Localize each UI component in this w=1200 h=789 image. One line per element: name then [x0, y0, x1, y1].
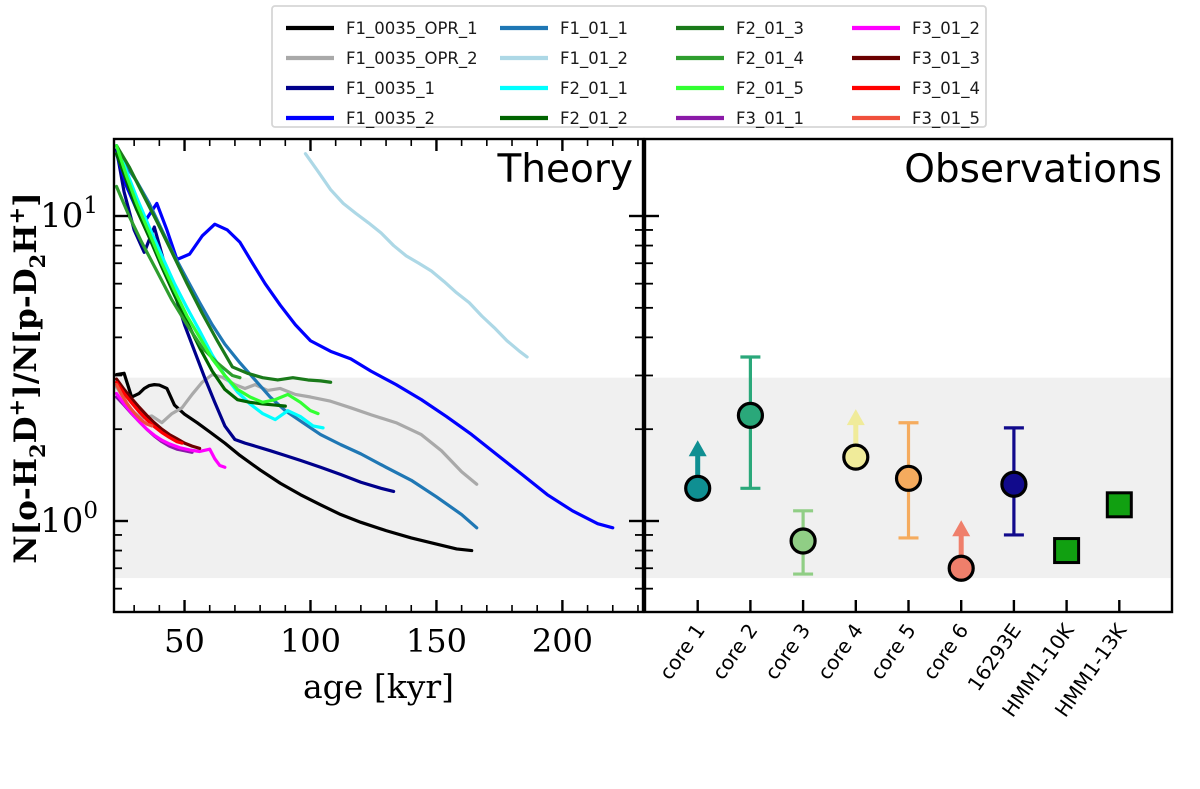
y-axis-label: N[o-H2D+]/N[p-D2H+] [4, 192, 50, 564]
theory-shaded-band [114, 378, 643, 578]
observation-circle-marker[interactable] [738, 403, 762, 427]
obs-x-tick-label: core 4 [812, 619, 867, 684]
obs-x-tick-label: core 3 [760, 619, 815, 684]
observation-circle-marker[interactable] [791, 529, 815, 553]
legend-label: F3_01_2 [912, 19, 980, 39]
legend-label: F2_01_5 [736, 79, 804, 99]
legend-label: F1_0035_2 [346, 109, 435, 129]
observations-x-axis: core 1core 2core 3core 4core 5core 61629… [654, 600, 1132, 721]
y-tick-label: 101 [40, 193, 98, 236]
obs-x-tick-label: core 5 [865, 619, 920, 684]
legend-label: F1_0035_OPR_2 [346, 49, 478, 69]
theory-curve [305, 154, 527, 357]
obs-x-tick-label: core 1 [654, 619, 709, 684]
panel-title-theory: Theory [496, 147, 633, 192]
x-axis-label: age [kyr] [303, 667, 454, 706]
observation-circle-marker[interactable] [844, 445, 868, 469]
legend-label: F2_01_3 [736, 19, 804, 39]
theory-curve [117, 146, 319, 414]
obs-x-tick-label: core 2 [707, 619, 762, 684]
x-tick-label: 50 [164, 622, 205, 660]
figure-svg: 10010150100150200core 1core 2core 3core … [0, 0, 1200, 789]
legend-label: F3_01_1 [736, 109, 804, 129]
observation-point[interactable] [1055, 539, 1079, 563]
panel-title-observations: Observations [904, 147, 1162, 192]
legend-label: F2_01_1 [560, 79, 628, 99]
legend-label: F3_01_4 [912, 79, 980, 99]
legend-label: F3_01_5 [912, 109, 980, 129]
x-tick-label: 150 [406, 622, 467, 660]
legend-label: F1_01_1 [560, 19, 628, 39]
y-axis-label-text: N[o-H2D+]/N[p-D2H+] [4, 192, 50, 564]
legend-label: F2_01_4 [736, 49, 804, 69]
legend-label: F3_01_3 [912, 49, 980, 69]
legend-label: F1_01_2 [560, 49, 628, 69]
observation-circle-marker[interactable] [949, 556, 973, 580]
x-tick-label: 200 [532, 622, 593, 660]
legend-label: F1_0035_1 [346, 79, 435, 99]
observation-square-marker[interactable] [1107, 493, 1131, 517]
theory-curve [117, 146, 331, 383]
legend-label: F2_01_2 [560, 109, 628, 129]
observation-circle-marker[interactable] [1002, 472, 1026, 496]
observation-circle-marker[interactable] [686, 476, 710, 500]
figure-root: 10010150100150200core 1core 2core 3core … [0, 0, 1200, 789]
observation-square-marker[interactable] [1055, 539, 1079, 563]
x-tick-label: 100 [280, 622, 341, 660]
legend-label: F1_0035_OPR_1 [346, 19, 478, 39]
y-tick-label: 100 [40, 498, 98, 541]
observation-point[interactable] [1107, 493, 1131, 517]
observation-circle-marker[interactable] [897, 466, 921, 490]
obs-x-tick-label: core 6 [918, 619, 973, 684]
